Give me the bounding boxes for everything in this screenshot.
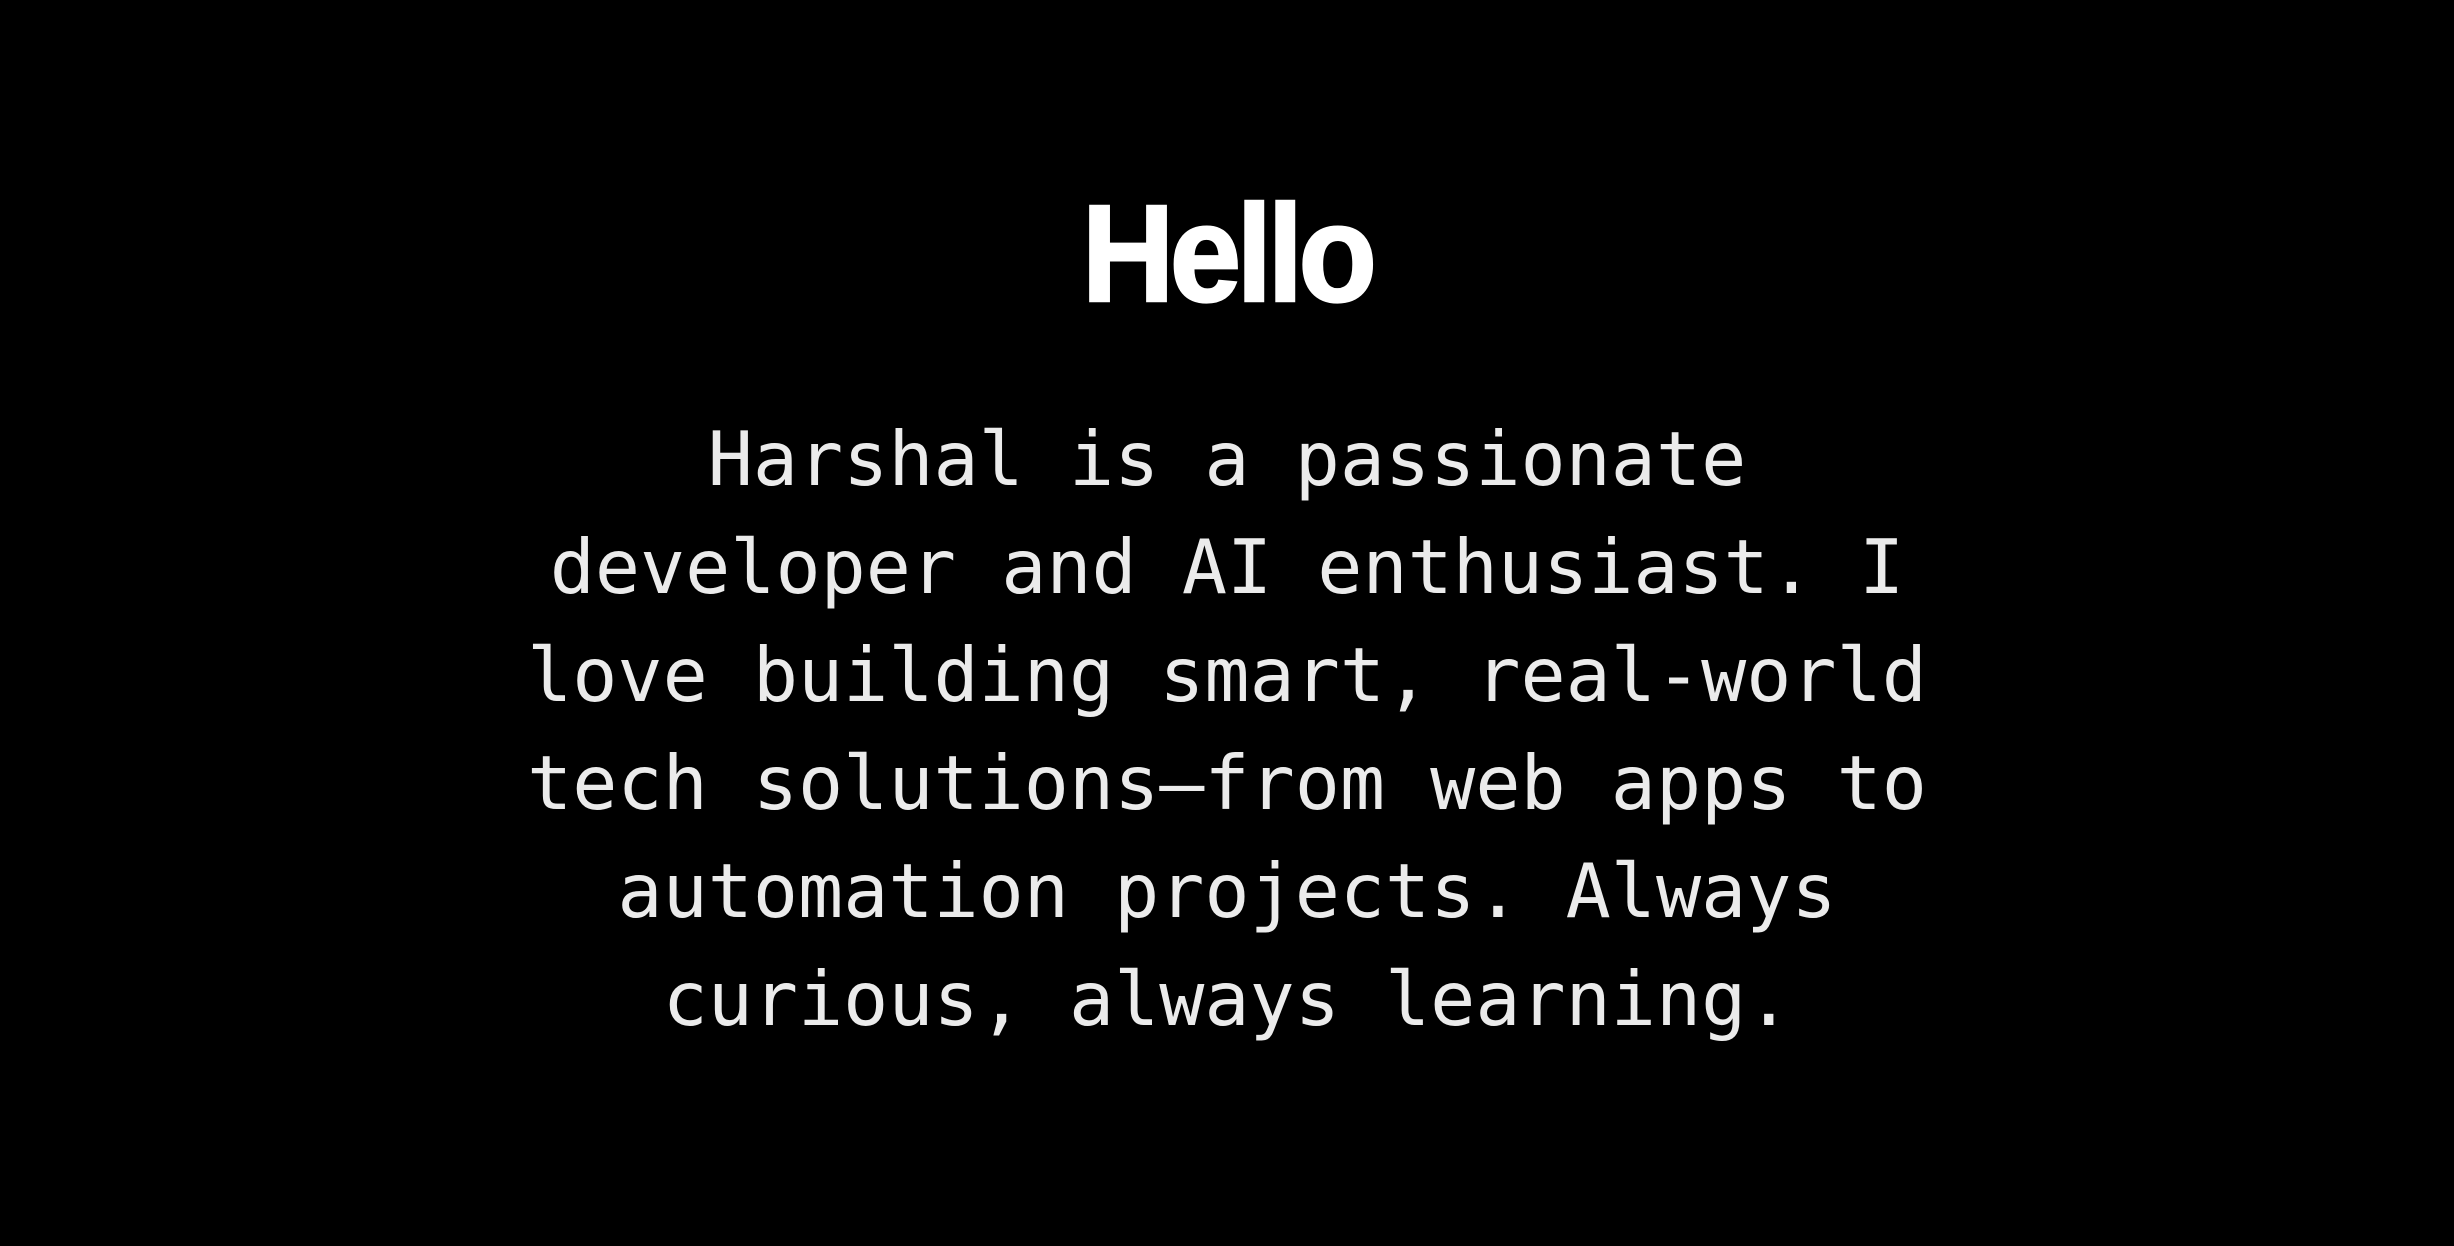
hero-description-text: Harshal is a passionate developer and AI…	[497, 405, 1957, 1053]
hero-section: Hello Harshal is a passionate developer …	[0, 0, 2454, 1246]
page-title: Hello	[86, 185, 2368, 323]
